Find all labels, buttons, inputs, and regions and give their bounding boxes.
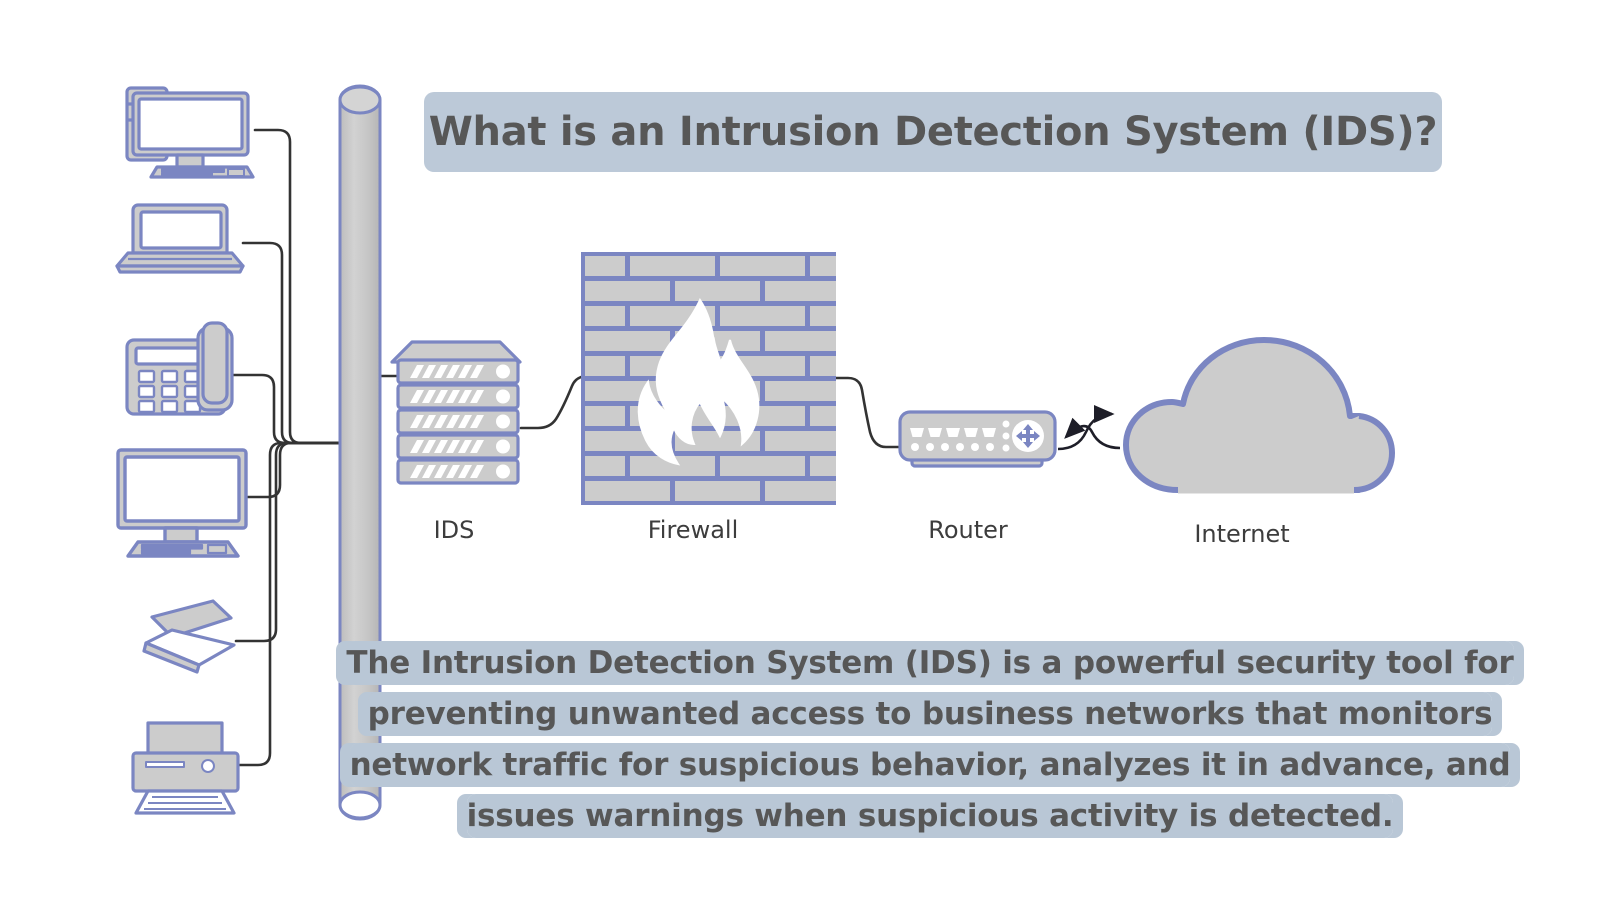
node-label-ids: IDS (390, 516, 518, 544)
cloud-icon (1126, 340, 1392, 490)
monitor-workstation-icon (118, 450, 246, 556)
description-block: The Intrusion Detection System (IDS) is … (330, 640, 1530, 844)
description-line: issues warnings when suspicious activity… (330, 793, 1530, 844)
description-line-text: The Intrusion Detection System (IDS) is … (346, 641, 1513, 685)
page-title: What is an Intrusion Detection System (I… (424, 92, 1442, 172)
description-line: preventing unwanted access to business n… (330, 691, 1530, 742)
description-line-text: issues warnings when suspicious activity… (467, 794, 1394, 838)
brick-wall-flame-icon (581, 252, 850, 505)
cable-router-internet (1058, 414, 1120, 449)
description-line: network traffic for suspicious behavior,… (330, 742, 1530, 793)
printer-icon (133, 723, 238, 813)
desktop-computer-icon (127, 88, 253, 177)
node-label-internet: Internet (1158, 520, 1326, 548)
cable-laptop (243, 243, 345, 443)
desk-phone-icon (127, 323, 232, 414)
server-rack-icon (392, 342, 520, 483)
node-label-firewall: Firewall (608, 516, 778, 544)
cable-desktop (255, 130, 345, 443)
description-line: The Intrusion Detection System (IDS) is … (330, 640, 1530, 691)
cable-monitor (248, 443, 345, 497)
cable-firewall-to-router (828, 378, 900, 447)
flatbed-scanner-icon (144, 601, 234, 672)
router-icon (900, 412, 1055, 466)
laptop-icon (117, 205, 243, 272)
cable-scanner (236, 443, 345, 641)
cable-phone (232, 375, 345, 443)
description-line-text: network traffic for suspicious behavior,… (350, 743, 1511, 787)
node-label-router: Router (888, 516, 1048, 544)
description-line-text: preventing unwanted access to business n… (368, 692, 1493, 736)
